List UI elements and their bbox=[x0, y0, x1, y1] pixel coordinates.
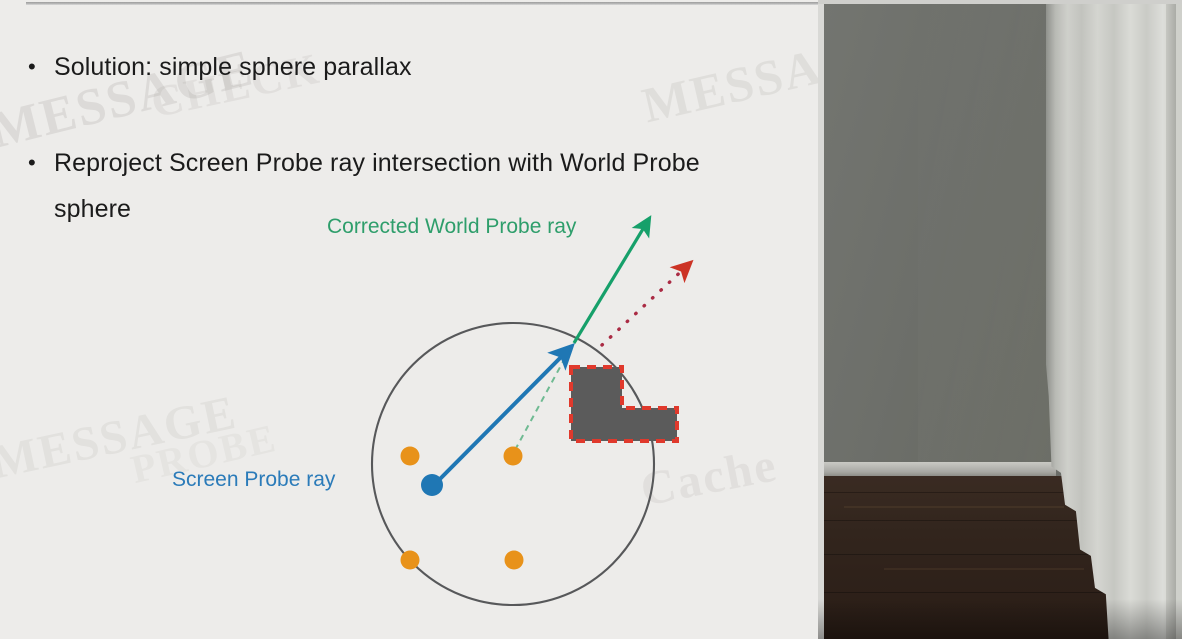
sphere-parallax-diagram: Corrected World Probe ray Screen Probe r… bbox=[150, 195, 750, 625]
corrected-world-probe-ray-label: Corrected World Probe ray bbox=[327, 215, 576, 239]
world-probe-dot bbox=[504, 447, 523, 466]
video-frame-left-edge bbox=[818, 0, 824, 639]
presentation-slide: MESSAGE CHECK MESSAGE MESSAGE Cache PROB… bbox=[0, 0, 818, 639]
video-frame-top-edge bbox=[818, 0, 1182, 4]
diagram-canvas bbox=[150, 195, 750, 625]
screen-probe-ray-label: Screen Probe ray bbox=[172, 468, 335, 492]
video-frame-right-edge bbox=[1176, 0, 1182, 639]
wall-shading bbox=[918, 0, 1058, 470]
world-probe-dot bbox=[505, 551, 524, 570]
slide-top-rule bbox=[26, 2, 818, 5]
bullet-marker: • bbox=[28, 44, 54, 90]
room-baseboard bbox=[824, 462, 1056, 476]
corrected-world-probe-ray bbox=[574, 219, 649, 343]
screen-probe-ray bbox=[434, 347, 571, 485]
bullet-item: • Solution: simple sphere parallax bbox=[28, 44, 748, 90]
bullet-marker: • bbox=[28, 140, 54, 186]
world-probe-dot bbox=[401, 447, 420, 466]
bullet-text: Solution: simple sphere parallax bbox=[54, 44, 748, 90]
webcam-video-pane bbox=[818, 0, 1182, 639]
world-probe-dot bbox=[401, 551, 420, 570]
world-probe-dashed-line bbox=[515, 347, 571, 450]
screen-capture: MESSAGE CHECK MESSAGE MESSAGE Cache PROB… bbox=[0, 0, 1182, 639]
screen-probe-origin-dot bbox=[421, 474, 443, 496]
